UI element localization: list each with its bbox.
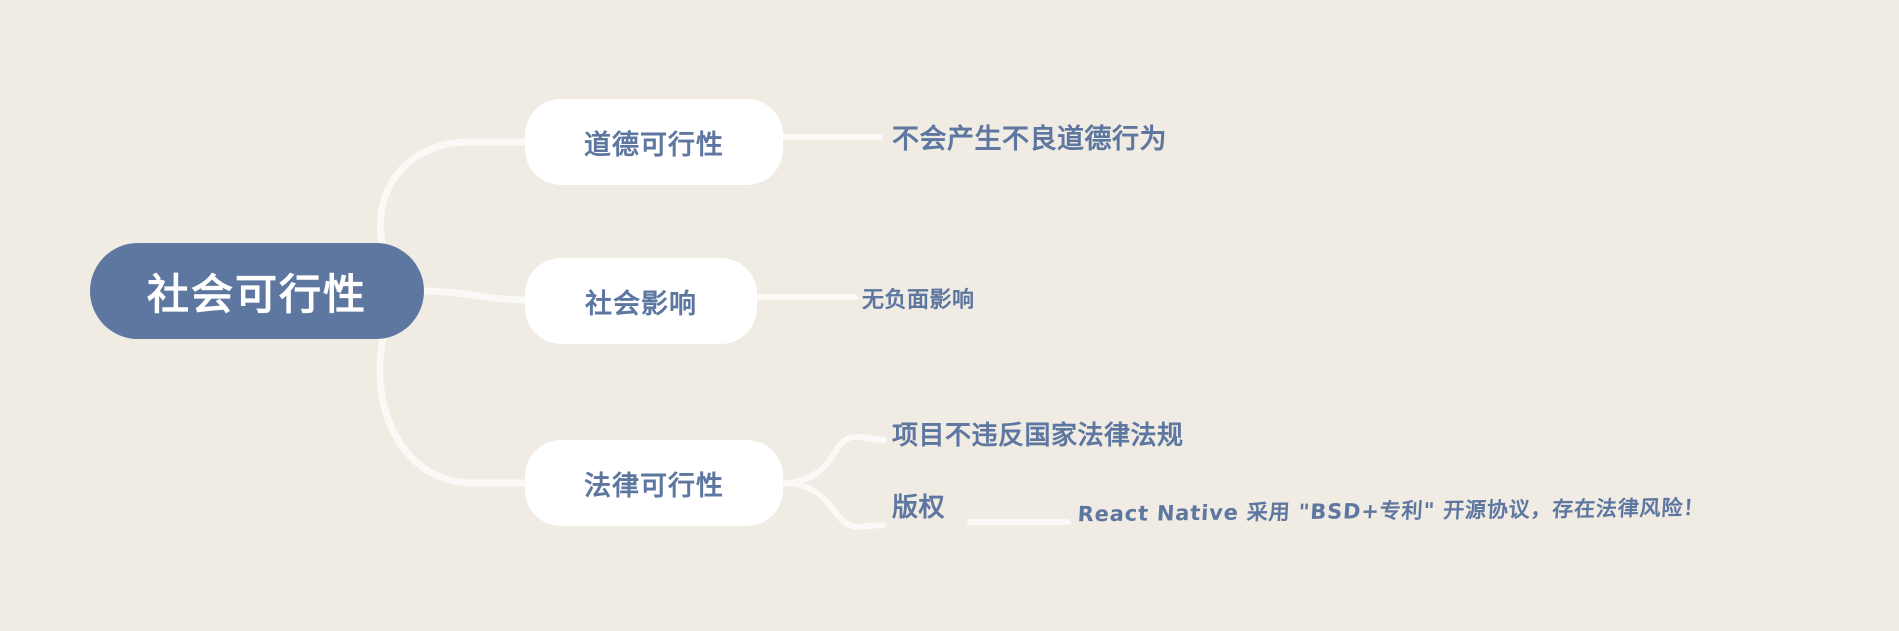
leaf-label-no-immoral-behavior[interactable]: 不会产生不良道德行为 (892, 117, 1167, 156)
branch-node-legal-feasibility[interactable]: 法律可行性 (525, 440, 783, 526)
connector-root-to-branch-2 (424, 291, 525, 300)
leaf-label-copyright[interactable]: 版权 (892, 487, 945, 524)
root-node[interactable]: 社会可行性 (90, 243, 424, 339)
branch-node-moral-feasibility[interactable]: 道德可行性 (525, 99, 783, 185)
mindmap-canvas: 社会可行性 道德可行性 社会影响 法律可行性 不会产生不良道德行为 无负面影响 … (0, 0, 1899, 631)
branch-node-social-impact[interactable]: 社会影响 (525, 258, 757, 344)
leaf-label-no-negative-impact[interactable]: 无负面影响 (862, 282, 975, 314)
leaf-label-complies-with-law[interactable]: 项目不违反国家法律法规 (892, 415, 1184, 452)
connector-branch-3-to-leaf-4 (783, 483, 884, 527)
connector-branch-3-to-leaf-3 (783, 437, 884, 483)
annotation-license-risk-note[interactable]: React Native 采用 "BSD+专利" 开源协议，存在法律风险！ (1077, 492, 1706, 529)
